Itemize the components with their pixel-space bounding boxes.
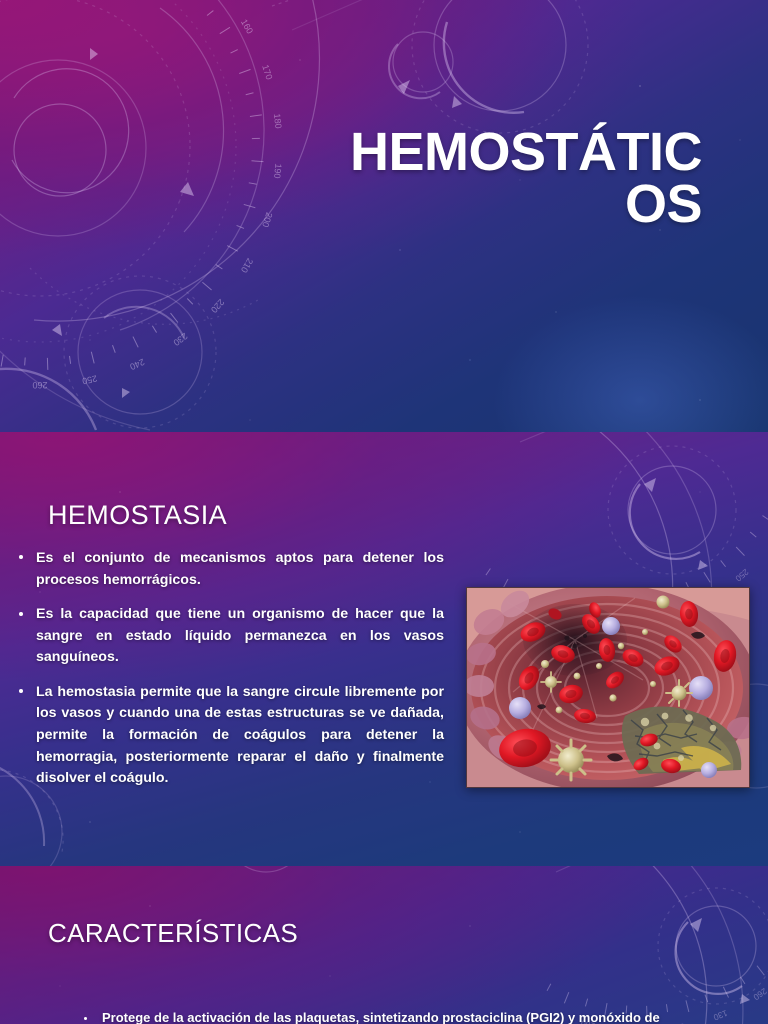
title-block: HEMOSTÁTICOS: [272, 126, 702, 231]
slide-caracteristicas: 250 260 130 140 150 160 CARACTERÍSTICAS …: [0, 866, 768, 1024]
slide-title: 140 150 160 170 180 190 200 210 220 230 …: [0, 0, 768, 432]
list-item-text: Es el conjunto de mecanismos aptos para …: [36, 550, 444, 588]
slide-deck: 140 150 160 170 180 190 200 210 220 230 …: [0, 0, 768, 1024]
bullet-dot-icon: [19, 612, 23, 616]
hemostasia-bullet-list: Es el conjunto de mecanismos aptos para …: [14, 548, 444, 790]
list-item-text: Protege de la activación de las plaqueta…: [102, 1010, 660, 1024]
caracteristicas-bullet-list: Protege de la activación de las plaqueta…: [80, 1010, 740, 1024]
list-item: Protege de la activación de las plaqueta…: [80, 1010, 740, 1024]
list-item: Es la capacidad que tiene un organismo d…: [14, 604, 444, 669]
list-item-text: La hemostasia permite que la sangre circ…: [36, 684, 444, 786]
bullet-dot-icon: [84, 1017, 87, 1020]
list-item: Es el conjunto de mecanismos aptos para …: [14, 548, 444, 591]
title-line-2: OS: [625, 174, 702, 234]
bullet-dot-icon: [19, 555, 23, 559]
bullet-dot-icon: [19, 689, 23, 693]
title-line-1: HEMOSTÁTIC: [350, 122, 702, 182]
list-item-text: Es la capacidad que tiene un organismo d…: [36, 606, 444, 665]
list-item: La hemostasia permite que la sangre circ…: [14, 682, 444, 790]
hemostasia-heading: HEMOSTASIA: [48, 500, 227, 531]
page-title: HEMOSTÁTICOS: [272, 126, 702, 231]
caracteristicas-heading: CARACTERÍSTICAS: [48, 918, 298, 949]
blood-vessel-illustration: [466, 587, 750, 788]
slide-hemostasia: 230 240 250 260 130 140 150 160 HEMOSTA: [0, 432, 768, 866]
